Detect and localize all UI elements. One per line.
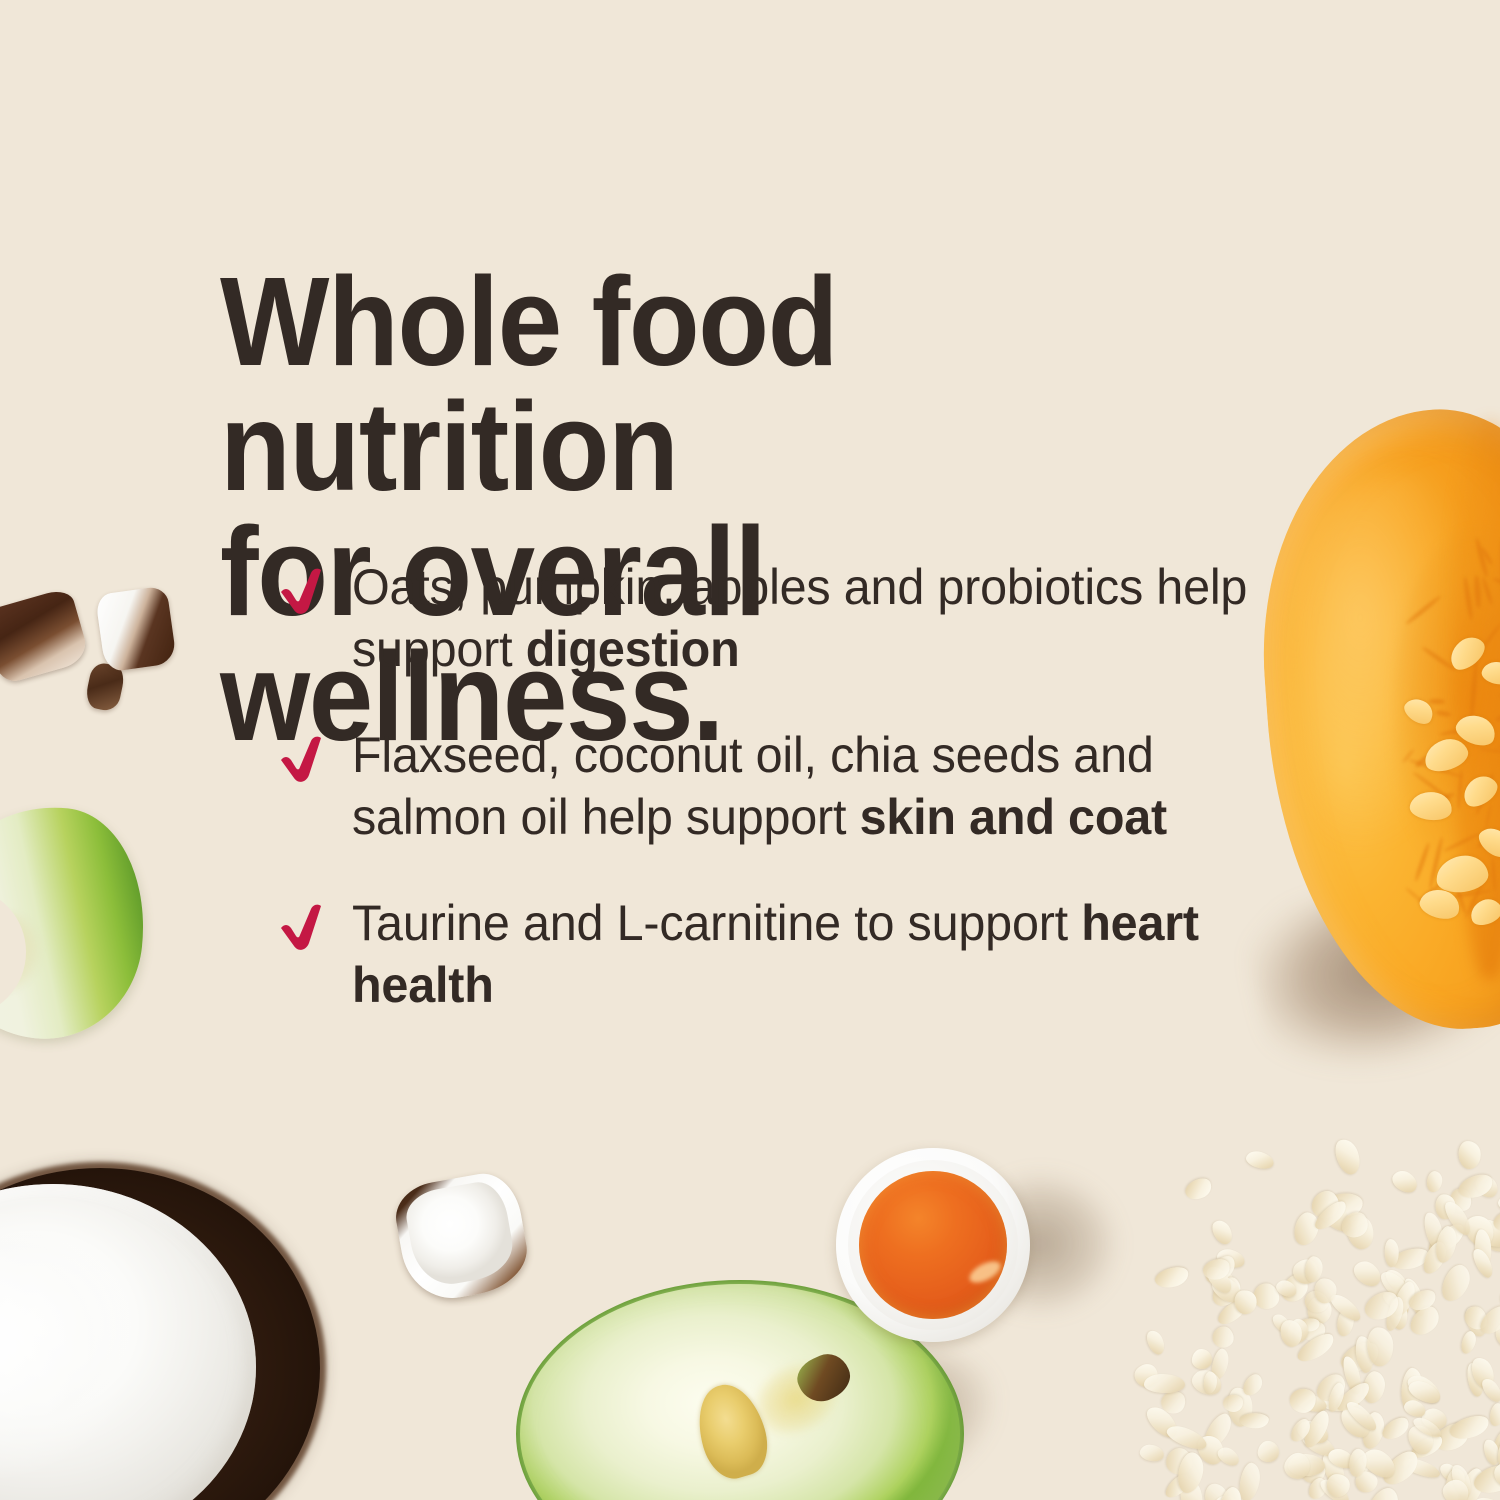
benefits-list: Oats, pumpkin, apples and probiotics hel… [278, 556, 1278, 1060]
checkmark-icon [278, 566, 324, 624]
benefit-item-skin-and-coat: Flaxseed, coconut oil, chia seeds and sa… [278, 724, 1278, 848]
benefit-text-regular: Oats, pumpkin, apples and probiotics hel… [352, 559, 1247, 677]
content-layer: Whole food nutrition for overall wellnes… [0, 0, 1500, 1500]
benefit-text-regular: Taurine and L-carnitine to support [352, 895, 1081, 951]
checkmark-icon [278, 734, 324, 792]
checkmark-icon [278, 902, 324, 960]
benefit-item-heart-health: Taurine and L-carnitine to support heart… [278, 892, 1278, 1016]
benefit-text-emphasis: skin and coat [860, 789, 1167, 845]
benefit-text-skin-and-coat: Flaxseed, coconut oil, chia seeds and sa… [352, 724, 1250, 848]
benefit-item-digestion: Oats, pumpkin, apples and probiotics hel… [278, 556, 1278, 680]
marketing-banner: Whole food nutrition for overall wellnes… [0, 0, 1500, 1500]
benefit-text-emphasis: digestion [526, 621, 740, 677]
benefit-text-heart-health: Taurine and L-carnitine to support heart… [352, 892, 1250, 1016]
benefit-text-digestion: Oats, pumpkin, apples and probiotics hel… [352, 556, 1250, 680]
